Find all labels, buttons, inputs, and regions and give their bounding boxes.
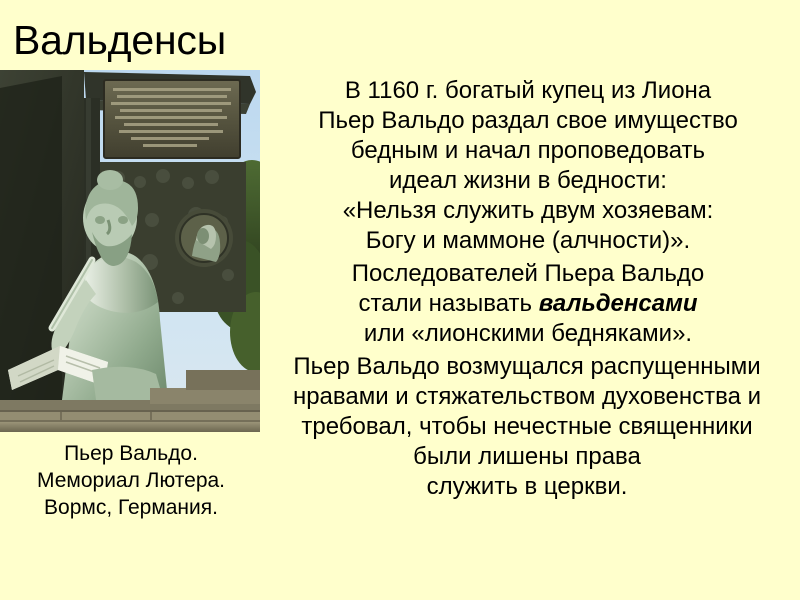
paragraph-line: Богу и маммоне (алчности)».: [262, 226, 794, 256]
paragraph-line: Последователей Пьера Вальдо: [262, 259, 794, 289]
photo-caption: Пьер Вальдо. Мемориал Лютера. Вормс, Гер…: [0, 440, 262, 521]
slide: Вальденсы: [0, 0, 800, 600]
paragraph-line-prefix: стали называть: [359, 290, 539, 317]
paragraph-clergy-criticism: Пьер Вальдо возмущался распущенными нрав…: [260, 352, 794, 502]
paragraph-line: нравами и стяжательством духовенства и: [260, 382, 794, 412]
statue-photo: [0, 70, 260, 432]
paragraph-line: или «лионскими бедняками».: [262, 319, 794, 349]
emphasis-waldensians: вальденсами: [539, 290, 698, 317]
paragraph-waldensians-name: Последователей Пьера Вальдо стали называ…: [262, 259, 794, 349]
paragraph-waldo-origin: В 1160 г. богатый купец из Лиона Пьер Ва…: [262, 76, 794, 256]
photo-caption-line-3: Вормс, Германия.: [0, 494, 262, 521]
body-text-column: В 1160 г. богатый купец из Лиона Пьер Ва…: [262, 76, 794, 502]
paragraph-line: В 1160 г. богатый купец из Лиона: [262, 76, 794, 106]
paragraph-line: «Нельзя служить двум хозяевам:: [262, 196, 794, 226]
paragraph-line: были лишены права: [260, 442, 794, 472]
photo-caption-line-1: Пьер Вальдо.: [0, 440, 262, 467]
paragraph-line: служить в церкви.: [260, 472, 794, 502]
paragraph-line: требовал, чтобы нечестные священники: [260, 412, 794, 442]
paragraph-line: идеал жизни в бедности:: [262, 166, 794, 196]
statue-photo-image: [0, 70, 260, 432]
page-title: Вальденсы: [13, 16, 226, 64]
paragraph-line: бедным и начал проповедовать: [262, 136, 794, 166]
photo-caption-line-2: Мемориал Лютера.: [0, 467, 262, 494]
paragraph-line: Пьер Вальдо возмущался распущенными: [260, 352, 794, 382]
paragraph-line: стали называть вальденсами: [262, 289, 794, 319]
paragraph-line: Пьер Вальдо раздал свое имущество: [262, 106, 794, 136]
